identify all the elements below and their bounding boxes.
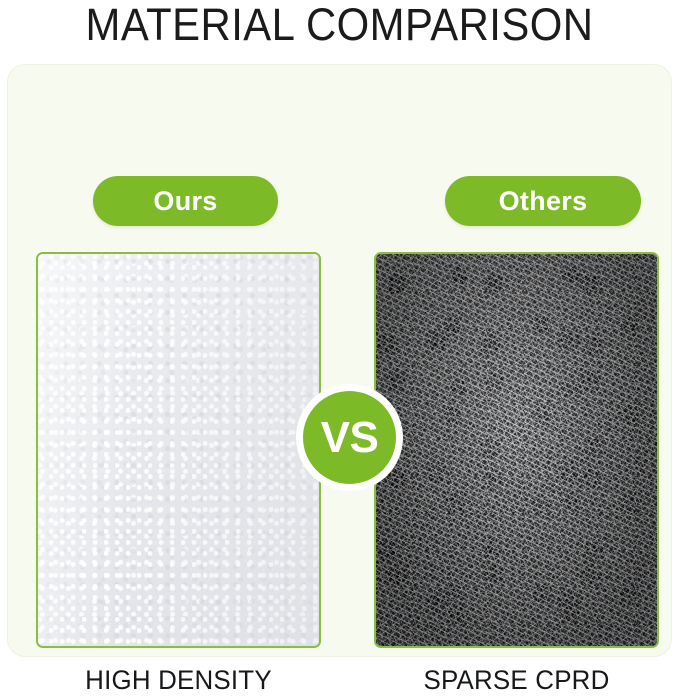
vs-badge: VS (296, 384, 403, 491)
page-title: MATERIAL COMPARISON (24, 0, 655, 50)
caption-others: SPARSE CPRD (380, 663, 654, 697)
caption-ours: HIGH DENSITY (42, 663, 316, 697)
material-panel-others (374, 252, 659, 648)
comparison-card: Ours Others VS HIGH DENSITY SPARSE CPRD (7, 64, 672, 657)
material-panel-ours (36, 252, 321, 648)
high-density-material-texture (38, 254, 319, 646)
badge-ours: Ours (93, 176, 278, 226)
sparse-carbon-material-texture (376, 254, 657, 646)
badge-others: Others (445, 176, 641, 226)
